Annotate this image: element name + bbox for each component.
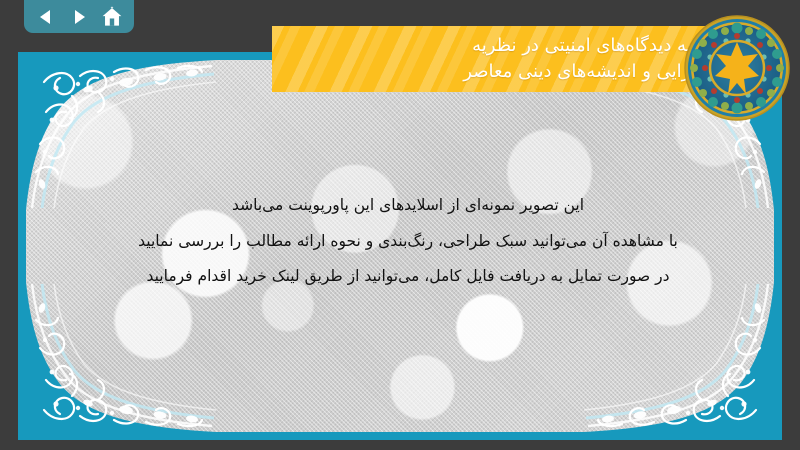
next-slide-button[interactable] [66, 4, 92, 30]
slide-canvas: این تصویر نمونه‌ای از اسلایدهای این پاور… [26, 60, 774, 432]
slide-viewer: این تصویر نمونه‌ای از اسلایدهای این پاور… [0, 0, 800, 450]
arabesque-corner-ornament [584, 282, 774, 432]
slide-frame: این تصویر نمونه‌ای از اسلایدهای این پاور… [18, 52, 782, 440]
arabesque-corner-ornament [26, 282, 216, 432]
page-title-second-line: واقع‌گرایی و اندیشه‌های دینی معاصر [463, 59, 732, 85]
home-icon [101, 6, 123, 28]
right-triangle-icon [69, 7, 89, 27]
page-title: مقایسه دیدگاه‌های امنیتی در نظریه [472, 33, 732, 59]
left-triangle-icon [36, 7, 56, 27]
body-line-1: این تصویر نمونه‌ای از اسلایدهای این پاور… [66, 188, 750, 224]
body-line-2: با مشاهده آن می‌توانید سبک طراحی، رنگ‌بن… [66, 224, 750, 260]
slide-title-banner: مقایسه دیدگاه‌های امنیتی در نظریه واقع‌گ… [272, 26, 762, 92]
body-line-3: در صورت تمایل به دریافت فایل کامل، می‌تو… [66, 259, 750, 295]
slide-navigation-bar [24, 0, 134, 33]
slide-body-text: این تصویر نمونه‌ای از اسلایدهای این پاور… [66, 188, 750, 295]
home-button[interactable] [99, 4, 125, 30]
previous-slide-button[interactable] [33, 4, 59, 30]
